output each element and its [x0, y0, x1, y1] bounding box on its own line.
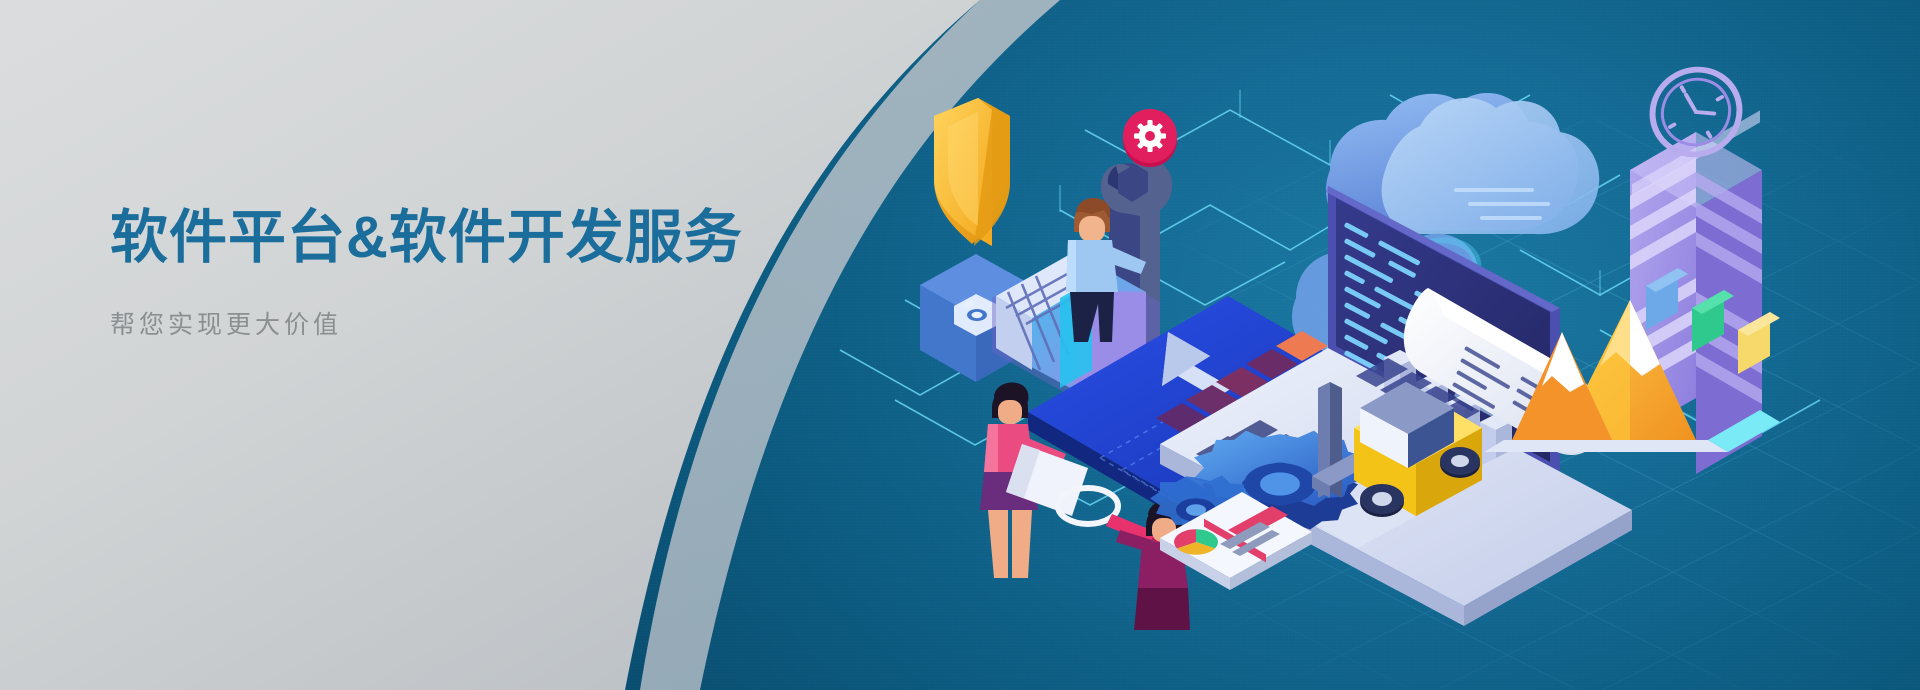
gear-settings-badge[interactable] — [1123, 109, 1177, 167]
page-subtitle: 帮您实现更大价值 — [110, 305, 810, 341]
isometric-scene — [860, 40, 1920, 660]
page-title: 软件平台&软件开发服务 — [110, 205, 810, 271]
hero-illustration — [860, 40, 1920, 660]
shield-icon — [934, 98, 1010, 246]
hero-banner: 软件平台&软件开发服务 帮您实现更大价值 — [0, 0, 1920, 690]
clock-icon — [1637, 54, 1755, 170]
hero-copy: 软件平台&软件开发服务 帮您实现更大价值 — [110, 205, 810, 341]
